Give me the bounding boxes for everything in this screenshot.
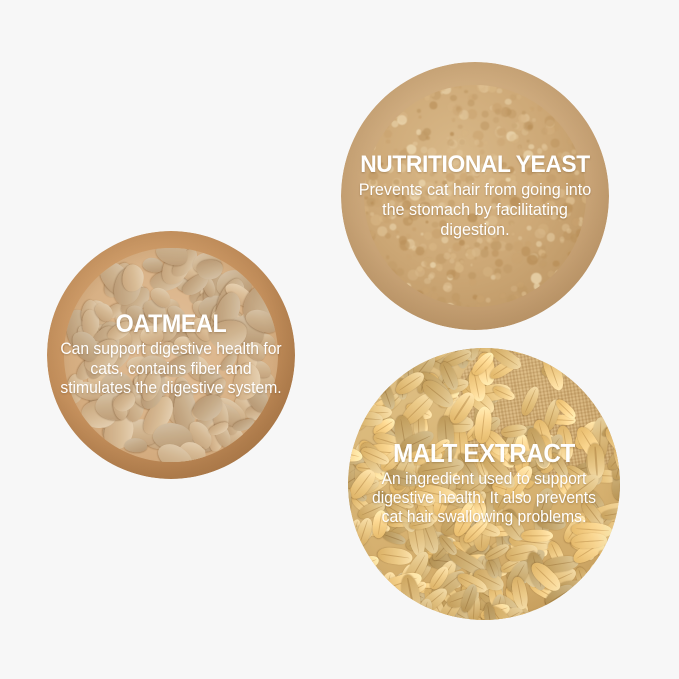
malt-extract-title: MALT EXTRACT bbox=[363, 440, 605, 467]
nutritional-yeast-description: Prevents cat hair from going into the st… bbox=[353, 180, 596, 240]
malt-extract-text-block: MALT EXTRACT An ingredient used to suppo… bbox=[348, 440, 620, 527]
oatmeal-title: OATMEAL bbox=[61, 312, 280, 338]
ingredient-card-nutritional-yeast: NUTRITIONAL YEAST Prevents cat hair from… bbox=[341, 62, 609, 330]
ingredient-card-oatmeal: OATMEAL Can support digestive health for… bbox=[47, 231, 295, 479]
oatmeal-description: Can support digestive health for cats, c… bbox=[59, 340, 283, 398]
nutritional-yeast-text-block: NUTRITIONAL YEAST Prevents cat hair from… bbox=[341, 152, 609, 240]
ingredient-infographic: OATMEAL Can support digestive health for… bbox=[0, 0, 679, 679]
malt-extract-description: An ingredient used to support digestive … bbox=[361, 470, 608, 528]
nutritional-yeast-title: NUTRITIONAL YEAST bbox=[356, 152, 594, 177]
oatmeal-text-block: OATMEAL Can support digestive health for… bbox=[47, 312, 295, 398]
ingredient-card-malt-extract: MALT EXTRACT An ingredient used to suppo… bbox=[348, 348, 620, 620]
